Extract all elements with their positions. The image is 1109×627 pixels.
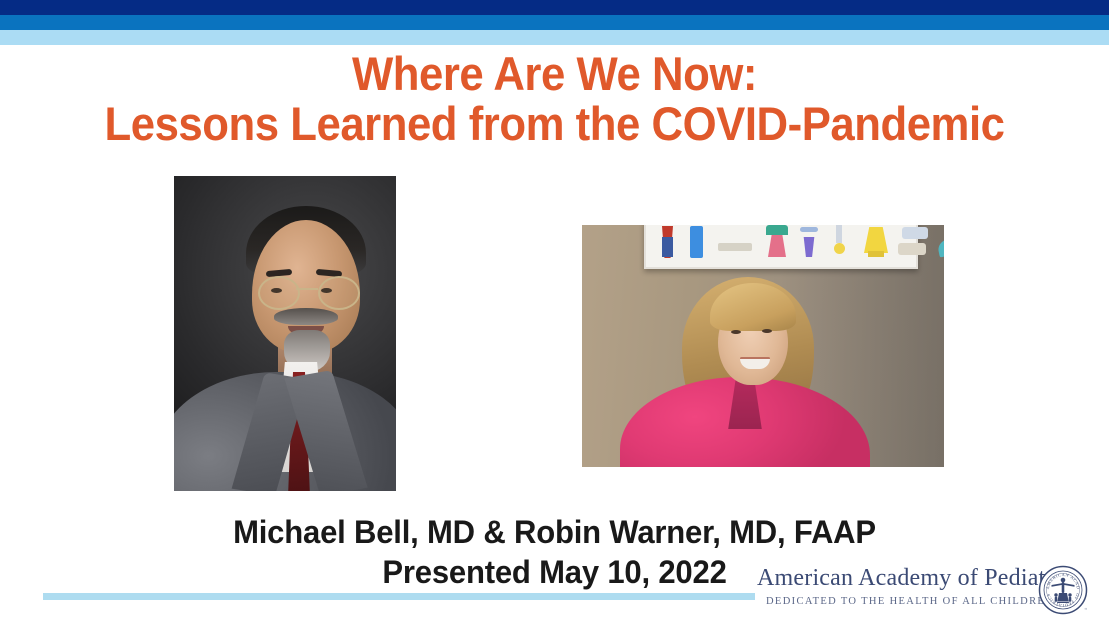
bridge (296, 288, 318, 290)
moustache (274, 308, 338, 325)
art-figure-5 (802, 237, 816, 257)
art-figure-4-body (768, 235, 786, 257)
art-figure-5-top (800, 227, 818, 232)
art-figure-6-stem (836, 225, 842, 243)
top-band-blue (0, 15, 1109, 30)
eye-left (731, 330, 741, 334)
art-figure-7 (864, 227, 888, 253)
top-band-light-blue (0, 30, 1109, 45)
presenter-names: Michael Bell, MD & Robin Warner, MD, FAA… (17, 514, 1093, 551)
art-figure-3 (718, 243, 752, 251)
art-figure-2 (690, 226, 703, 258)
aap-logo-name: American Academy of Pediatrics (757, 565, 1032, 592)
title-line-1: Where Are We Now: (39, 50, 1070, 98)
eye-right (762, 329, 772, 333)
lens-left (258, 276, 300, 310)
framed-artwork (644, 225, 918, 269)
art-figure-8-lower (898, 243, 926, 255)
bottom-divider-rule (43, 593, 755, 600)
eyeglasses-icon (256, 276, 358, 306)
top-band-navy (0, 0, 1109, 15)
michael-bell-headshot (174, 176, 396, 491)
aap-logo: American Academy of Pediatrics DEDICATED… (757, 565, 1087, 620)
art-figure-4-top (766, 225, 788, 235)
aap-logo-tagline: DEDICATED TO THE HEALTH OF ALL CHILDREN® (766, 596, 1063, 607)
svg-text:®: ® (1085, 606, 1088, 611)
robin-warner-headshot (582, 225, 944, 467)
presentation-slide: Where Are We Now: Lessons Learned from t… (0, 0, 1109, 627)
art-figure-8 (902, 227, 928, 239)
art-figure-7-base (868, 251, 884, 257)
slide-title: Where Are We Now: Lessons Learned from t… (0, 50, 1109, 148)
title-line-2: Lessons Learned from the COVID-Pandemic (39, 100, 1070, 148)
art-figure-6 (834, 243, 845, 254)
lens-right (318, 276, 360, 310)
art-figure-1-legs (662, 237, 673, 257)
aap-seal-icon: THE AMERICAN ACADEMY OF PEDIATRICS ® (1038, 565, 1088, 615)
